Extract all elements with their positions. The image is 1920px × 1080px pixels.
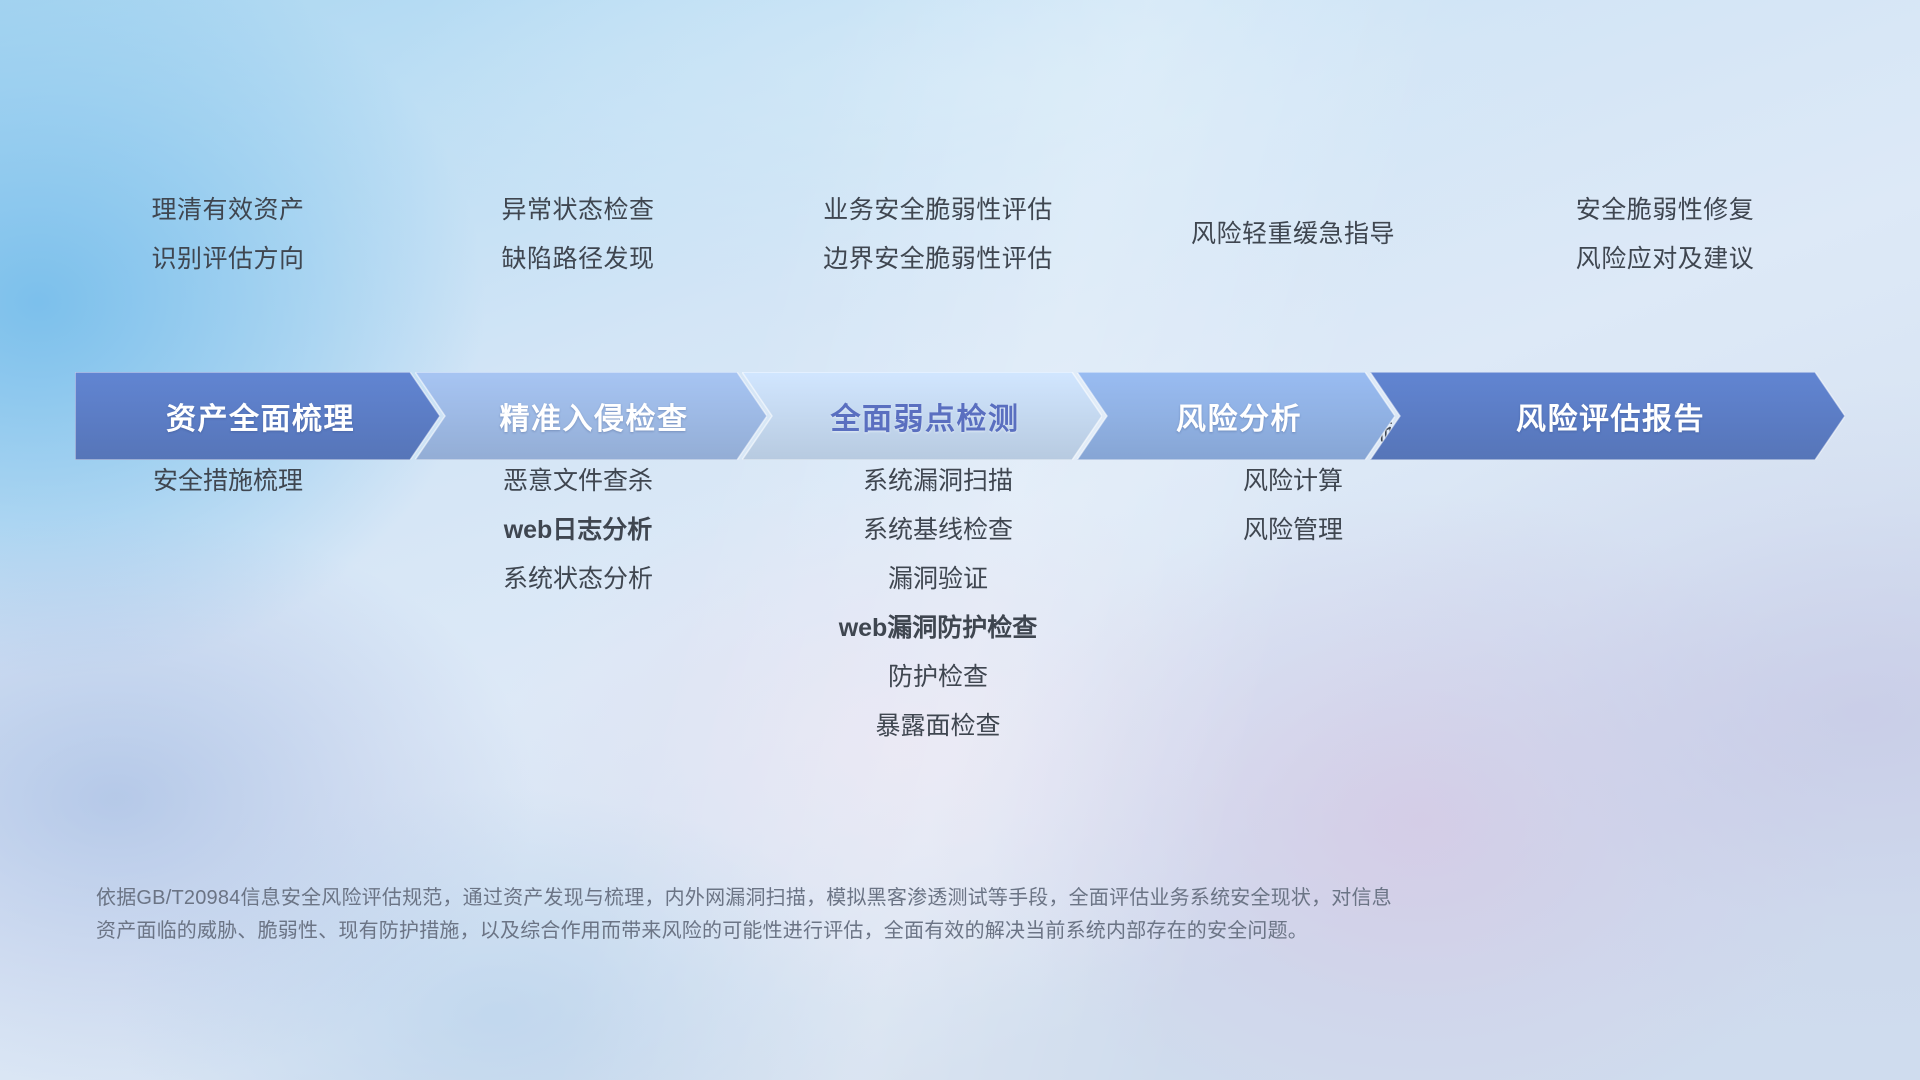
process-stage-4[interactable]: 风险分析 xyxy=(1077,372,1395,460)
list-item: 防护检查 xyxy=(638,653,1238,702)
footer-description: 依据GB/T20984信息安全风险评估规范，通过资产发现与梳理，内外网漏洞扫描，… xyxy=(96,882,1736,948)
list-item: web漏洞防护检查 xyxy=(638,604,1238,653)
process-stage-label: 精准入侵检查 xyxy=(494,394,689,438)
process-stage-label: 风险评估报告 xyxy=(1510,394,1705,438)
footer-line-2: 资产面临的威胁、脆弱性、现有防护措施，以及综合作用而带来风险的可能性进行评估，全… xyxy=(96,915,1736,948)
top-caption-line: 风险应对及建议 xyxy=(1365,235,1920,284)
process-stage-label: 风险分析 xyxy=(1170,394,1302,438)
list-item: 暴露面检查 xyxy=(638,702,1238,751)
process-stage-3[interactable]: 全面弱点检测 xyxy=(742,372,1102,460)
list-item: 漏洞验证 xyxy=(638,555,1238,604)
footer-line-1: 依据GB/T20984信息安全风险评估规范，通过资产发现与梳理，内外网漏洞扫描，… xyxy=(96,882,1736,915)
process-stage-1[interactable]: 资产全面梳理 xyxy=(75,372,440,460)
list-item: 风险计算 xyxy=(993,457,1593,506)
top-caption-line: 安全脆弱性修复 xyxy=(1365,186,1920,235)
process-stage-5[interactable]: 风险评估报告 xyxy=(1370,372,1845,460)
process-stage-label: 资产全面梳理 xyxy=(160,394,355,438)
process-chevron-banner: 资产全面梳理精准入侵检查全面弱点检测风险分析风险评估报告 xyxy=(75,372,1845,460)
top-caption-column-5: 安全脆弱性修复风险应对及建议 xyxy=(1365,186,1920,284)
slide-canvas: 理清有效资产识别评估方向异常状态检查缺陷路径发现业务安全脆弱性评估边界安全脆弱性… xyxy=(0,0,1920,1080)
list-item: 风险管理 xyxy=(993,506,1593,555)
process-stage-2[interactable]: 精准入侵检查 xyxy=(415,372,767,460)
process-stage-label: 全面弱点检测 xyxy=(825,394,1020,438)
